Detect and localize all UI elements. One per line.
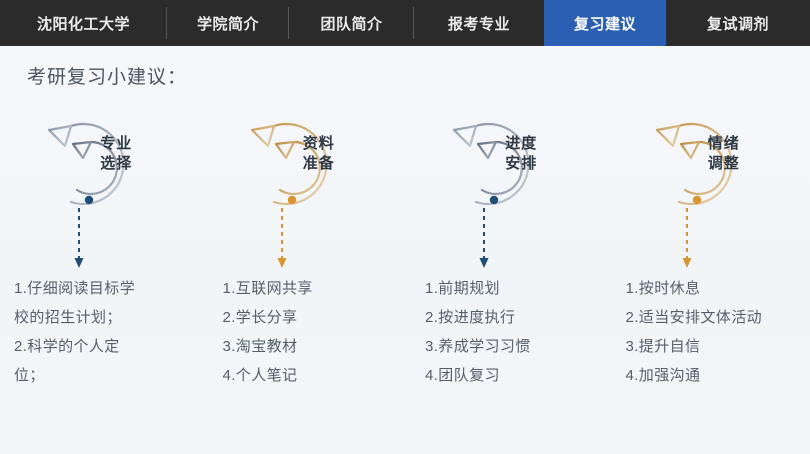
badge-label-line2: 安排 (484, 154, 558, 174)
badge-label-line1: 专业 (79, 134, 153, 154)
dashed-connector (73, 208, 85, 270)
advice-column-major-selection: 专业 选择 1.仔细阅读目标学校的招生计划； 2.科学的个人定位； (0, 104, 203, 434)
nav-tab-brand-label: 沈阳化工大学 (37, 13, 130, 34)
list-item: 1.按时休息 (626, 274, 805, 303)
list-item: 4.加强沟通 (626, 361, 805, 390)
advice-list: 1.仔细阅读目标学校的招生计划； 2.科学的个人定位； (0, 274, 203, 390)
badge-label-line2: 选择 (79, 154, 153, 174)
list-item: 4.团队复习 (425, 361, 602, 390)
nav-tab-majors[interactable]: 报考专业 (414, 0, 544, 46)
advice-list: 1.互联网共享 2.学长分享 3.淘宝教材 4.个人笔记 (203, 274, 406, 390)
list-item: 1.互联网共享 (223, 274, 400, 303)
badge-label-line1: 资料 (282, 134, 356, 154)
list-item: 2.按进度执行 (425, 303, 602, 332)
badge-label: 进度 安排 (484, 134, 558, 174)
badge-label: 资料 准备 (282, 134, 356, 174)
badge-label-line1: 情绪 (687, 134, 761, 154)
list-item: 4.个人笔记 (223, 361, 400, 390)
list-item: 3.养成学习习惯 (425, 332, 602, 361)
list-item: 3.提升自信 (626, 332, 805, 361)
advice-column-schedule: 进度 安排 1.前期规划 2.按进度执行 3.养成学习习惯 4.团队复习 (405, 104, 608, 434)
nav-tab-review-advice-label: 复习建议 (574, 13, 636, 34)
dashed-connector (478, 208, 490, 270)
nav-tab-college-intro-label: 学院简介 (197, 13, 259, 34)
list-item: 1.仔细阅读目标学校的招生计划； (14, 274, 146, 332)
badge-label: 情绪 调整 (687, 134, 761, 174)
nav-tab-retest-transfer-label: 复试调剂 (707, 13, 769, 34)
badge-label-line1: 进度 (484, 134, 558, 154)
dashed-connector (681, 208, 693, 270)
slide-page: 沈阳化工大学 学院简介 团队简介 报考专业 复习建议 复试调剂 考研复习小建议： (0, 0, 810, 454)
list-item: 3.淘宝教材 (223, 332, 400, 361)
nav-tab-team-intro-label: 团队简介 (320, 13, 382, 34)
list-item: 2.适当安排文体活动 (626, 303, 805, 332)
top-navigation-bar: 沈阳化工大学 学院简介 团队简介 报考专业 复习建议 复试调剂 (0, 0, 810, 46)
badge-label: 专业 选择 (79, 134, 153, 174)
list-item: 2.科学的个人定位； (14, 332, 146, 390)
page-title: 考研复习小建议： (27, 62, 187, 89)
nav-tab-brand[interactable]: 沈阳化工大学 (0, 0, 167, 46)
badge-label-line2: 准备 (282, 154, 356, 174)
advice-columns: 专业 选择 1.仔细阅读目标学校的招生计划； 2.科学的个人定位； (0, 104, 810, 434)
badge-label-line2: 调整 (687, 154, 761, 174)
advice-column-material-preparation: 资料 准备 1.互联网共享 2.学长分享 3.淘宝教材 4.个人笔记 (203, 104, 406, 434)
list-item: 2.学长分享 (223, 303, 400, 332)
dashed-connector (276, 208, 288, 270)
list-item: 1.前期规划 (425, 274, 602, 303)
nav-tab-retest-transfer[interactable]: 复试调剂 (666, 0, 810, 46)
nav-tab-team-intro[interactable]: 团队简介 (289, 0, 414, 46)
advice-list: 1.按时休息 2.适当安排文体活动 3.提升自信 4.加强沟通 (608, 274, 810, 390)
nav-tab-majors-label: 报考专业 (448, 13, 510, 34)
nav-tab-college-intro[interactable]: 学院简介 (167, 0, 289, 46)
advice-list: 1.前期规划 2.按进度执行 3.养成学习习惯 4.团队复习 (405, 274, 608, 390)
nav-tab-review-advice[interactable]: 复习建议 (544, 0, 666, 46)
advice-column-mood-adjustment: 情绪 调整 1.按时休息 2.适当安排文体活动 3.提升自信 4.加强沟通 (608, 104, 810, 434)
